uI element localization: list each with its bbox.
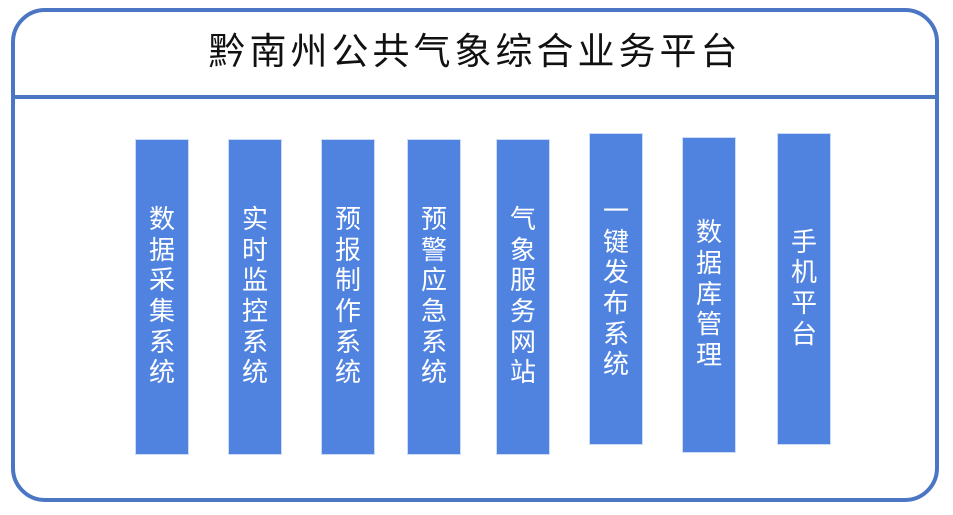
pillar-label: 数据库管理 bbox=[694, 218, 724, 371]
title-divider bbox=[13, 95, 937, 99]
pillar-6[interactable]: 一键发布系统 bbox=[589, 133, 643, 445]
diagram-canvas: 黔南州公共气象综合业务平台 数据采集系统实时监控系统预报制作系统预警应急系统气象… bbox=[0, 0, 953, 515]
pillar-8[interactable]: 手机平台 bbox=[777, 133, 831, 445]
pillar-label: 一键发布系统 bbox=[601, 197, 631, 381]
pillar-label: 预报制作系统 bbox=[333, 205, 363, 389]
pillar-label: 数据采集系统 bbox=[147, 205, 177, 389]
pillar-4[interactable]: 预警应急系统 bbox=[407, 139, 461, 455]
pillar-row: 数据采集系统实时监控系统预报制作系统预警应急系统气象服务网站一键发布系统数据库管… bbox=[135, 128, 835, 453]
title-banner: 黔南州公共气象综合业务平台 bbox=[15, 12, 935, 95]
pillar-label: 气象服务网站 bbox=[508, 205, 538, 389]
page-title: 黔南州公共气象综合业务平台 bbox=[209, 33, 742, 74]
pillar-2[interactable]: 实时监控系统 bbox=[228, 139, 282, 455]
pillar-label: 手机平台 bbox=[789, 228, 819, 351]
pillar-label: 预警应急系统 bbox=[419, 205, 449, 389]
pillar-5[interactable]: 气象服务网站 bbox=[496, 139, 550, 455]
pillar-1[interactable]: 数据采集系统 bbox=[135, 139, 189, 455]
pillar-label: 实时监控系统 bbox=[240, 205, 270, 389]
pillar-3[interactable]: 预报制作系统 bbox=[321, 139, 375, 455]
pillar-7[interactable]: 数据库管理 bbox=[682, 137, 736, 453]
